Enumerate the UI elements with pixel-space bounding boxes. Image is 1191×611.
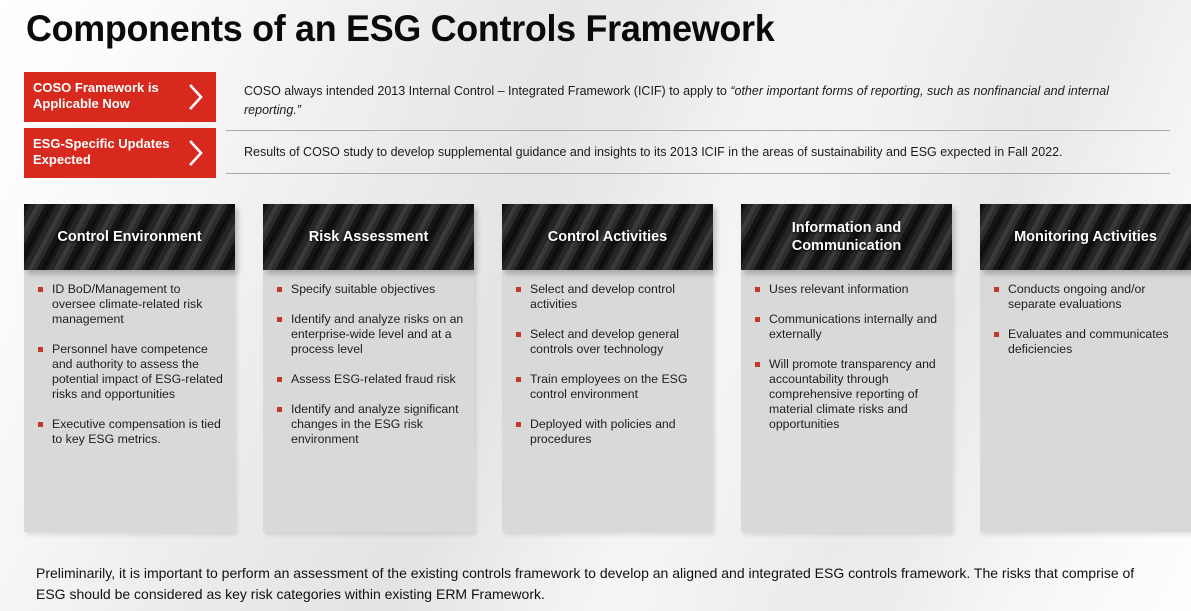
intro-text-block: COSO always intended 2013 Internal Contr… bbox=[226, 72, 1170, 174]
intro-plain-text: COSO always intended 2013 Internal Contr… bbox=[244, 84, 730, 98]
bullet-list: ID BoD/Management to oversee climate-rel… bbox=[32, 282, 225, 447]
list-item: Executive compensation is tied to key ES… bbox=[32, 417, 225, 447]
column-header: Risk Assessment bbox=[263, 204, 474, 270]
column-risk-assessment: Risk Assessment Specify suitable objecti… bbox=[263, 204, 474, 532]
column-body: Select and develop control activities Se… bbox=[502, 270, 713, 532]
list-item: Evaluates and communicates deficiencies bbox=[988, 327, 1181, 357]
bullet-list: Select and develop control activities Se… bbox=[510, 282, 703, 447]
intro-paragraph-coso-intent: COSO always intended 2013 Internal Contr… bbox=[226, 72, 1170, 131]
list-item: Specify suitable objectives bbox=[271, 282, 464, 297]
list-item: Assess ESG-related fraud risk bbox=[271, 372, 464, 387]
chevron-right-icon bbox=[188, 83, 204, 111]
intro-paragraph-coso-study: Results of COSO study to develop supplem… bbox=[226, 131, 1170, 174]
list-item: Conducts ongoing and/or separate evaluat… bbox=[988, 282, 1181, 312]
list-item: Uses relevant information bbox=[749, 282, 942, 297]
chevron-right-icon bbox=[188, 139, 204, 167]
column-body: Specify suitable objectives Identify and… bbox=[263, 270, 474, 532]
column-control-activities: Control Activities Select and develop co… bbox=[502, 204, 713, 532]
list-item: Train employees on the ESG control envir… bbox=[510, 372, 703, 402]
list-item: Personnel have competence and authority … bbox=[32, 342, 225, 402]
list-item: Will promote transparency and accountabi… bbox=[749, 357, 942, 432]
list-item: Identify and analyze significant changes… bbox=[271, 402, 464, 447]
bullet-list: Conducts ongoing and/or separate evaluat… bbox=[988, 282, 1181, 357]
bullet-list: Uses relevant information Communications… bbox=[749, 282, 942, 432]
column-header: Control Activities bbox=[502, 204, 713, 270]
column-body: Uses relevant information Communications… bbox=[741, 270, 952, 532]
column-header: Control Environment bbox=[24, 204, 235, 270]
column-information-and-communication: Information and Communication Uses relev… bbox=[741, 204, 952, 532]
column-control-environment: Control Environment ID BoD/Management to… bbox=[24, 204, 235, 532]
list-item: Select and develop control activities bbox=[510, 282, 703, 312]
column-header-label: Control Activities bbox=[548, 228, 668, 246]
list-item: Select and develop general controls over… bbox=[510, 327, 703, 357]
callout-label: ESG-Specific Updates Expected bbox=[33, 136, 170, 167]
framework-columns: Control Environment ID BoD/Management to… bbox=[24, 204, 1174, 532]
column-header-label: Monitoring Activities bbox=[1014, 228, 1157, 246]
callout-label: COSO Framework is Applicable Now bbox=[33, 80, 159, 111]
column-header-label: Control Environment bbox=[57, 228, 201, 246]
column-monitoring-activities: Monitoring Activities Conducts ongoing a… bbox=[980, 204, 1191, 532]
column-body: Conducts ongoing and/or separate evaluat… bbox=[980, 270, 1191, 532]
column-header: Monitoring Activities bbox=[980, 204, 1191, 270]
column-body: ID BoD/Management to oversee climate-rel… bbox=[24, 270, 235, 532]
list-item: Communications internally and externally bbox=[749, 312, 942, 342]
slide-canvas: Components of an ESG Controls Framework … bbox=[0, 0, 1191, 611]
list-item: Deployed with policies and procedures bbox=[510, 417, 703, 447]
callout-esg-specific-updates[interactable]: ESG-Specific Updates Expected bbox=[24, 128, 216, 178]
list-item: Identify and analyze risks on an enterpr… bbox=[271, 312, 464, 357]
list-item: ID BoD/Management to oversee climate-rel… bbox=[32, 282, 225, 327]
column-header: Information and Communication bbox=[741, 204, 952, 270]
callout-coso-framework-applicable[interactable]: COSO Framework is Applicable Now bbox=[24, 72, 216, 122]
footer-summary-text: Preliminarily, it is important to perfor… bbox=[36, 563, 1156, 605]
column-header-label: Risk Assessment bbox=[309, 228, 429, 246]
bullet-list: Specify suitable objectives Identify and… bbox=[271, 282, 464, 447]
column-header-label: Information and Communication bbox=[749, 219, 944, 255]
page-title: Components of an ESG Controls Framework bbox=[26, 8, 774, 50]
